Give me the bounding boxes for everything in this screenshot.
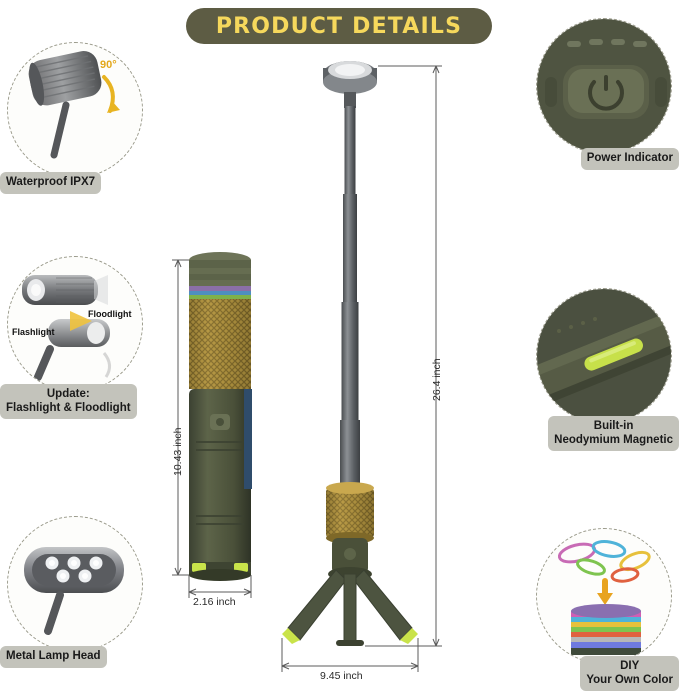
flashlight-annotation: Flashlight <box>12 327 55 337</box>
lamp-head-rotation-icon <box>8 43 143 178</box>
feature-image-power <box>536 18 672 154</box>
floodlight-annotation: Floodlight <box>88 309 131 319</box>
metal-lamp-head-icon <box>8 517 143 652</box>
feature-label-diy: DIY Your Own Color <box>580 656 679 691</box>
page-title: PRODUCT DETAILS <box>216 14 462 39</box>
flashlight-floodlight-icon <box>8 257 143 392</box>
feature-image-diy <box>536 528 672 664</box>
feature-label-update: Update: Flashlight & Floodlight <box>0 384 137 419</box>
feature-label-waterproof: Waterproof IPX7 <box>0 172 101 194</box>
magnet-body-icon <box>537 289 672 424</box>
feature-label-power: Power Indicator <box>581 148 679 170</box>
feature-card-lamphead: Metal Lamp Head <box>0 516 150 652</box>
feature-label-magnetic: Built-in Neodymium Magnetic <box>548 416 679 451</box>
power-button-icon <box>537 19 672 154</box>
rotation-angle-annotation: 90° <box>100 59 117 71</box>
feature-card-magnetic: Built-in Neodymium Magnetic <box>529 288 679 424</box>
feature-card-update: Flashlight Floodlight Update: Flashlight… <box>0 256 150 392</box>
feature-image-magnetic <box>536 288 672 424</box>
product-diagram-svg <box>160 46 520 686</box>
feature-image-lamphead <box>7 516 143 652</box>
product-diagram: 10.43 inch 2.16 inch 26.4 inch 9.45 inch <box>160 46 520 686</box>
feature-card-waterproof: 90° Waterproof IPX7 <box>0 42 150 178</box>
feature-card-power: Power Indicator <box>529 18 679 154</box>
diy-color-bands-icon <box>537 529 672 664</box>
feature-label-lamphead: Metal Lamp Head <box>0 646 107 668</box>
feature-image-update: Flashlight Floodlight <box>7 256 143 392</box>
dimension-collapsed-width: 2.16 inch <box>193 596 236 608</box>
dimension-tripod-width: 9.45 inch <box>320 670 363 682</box>
dimension-collapsed-height: 10.43 inch <box>172 428 184 476</box>
feature-image-waterproof: 90° <box>7 42 143 178</box>
feature-card-diy: DIY Your Own Color <box>529 528 679 664</box>
page-title-banner: PRODUCT DETAILS <box>186 8 492 44</box>
dimension-extended-height: 26.4 inch <box>431 358 443 401</box>
